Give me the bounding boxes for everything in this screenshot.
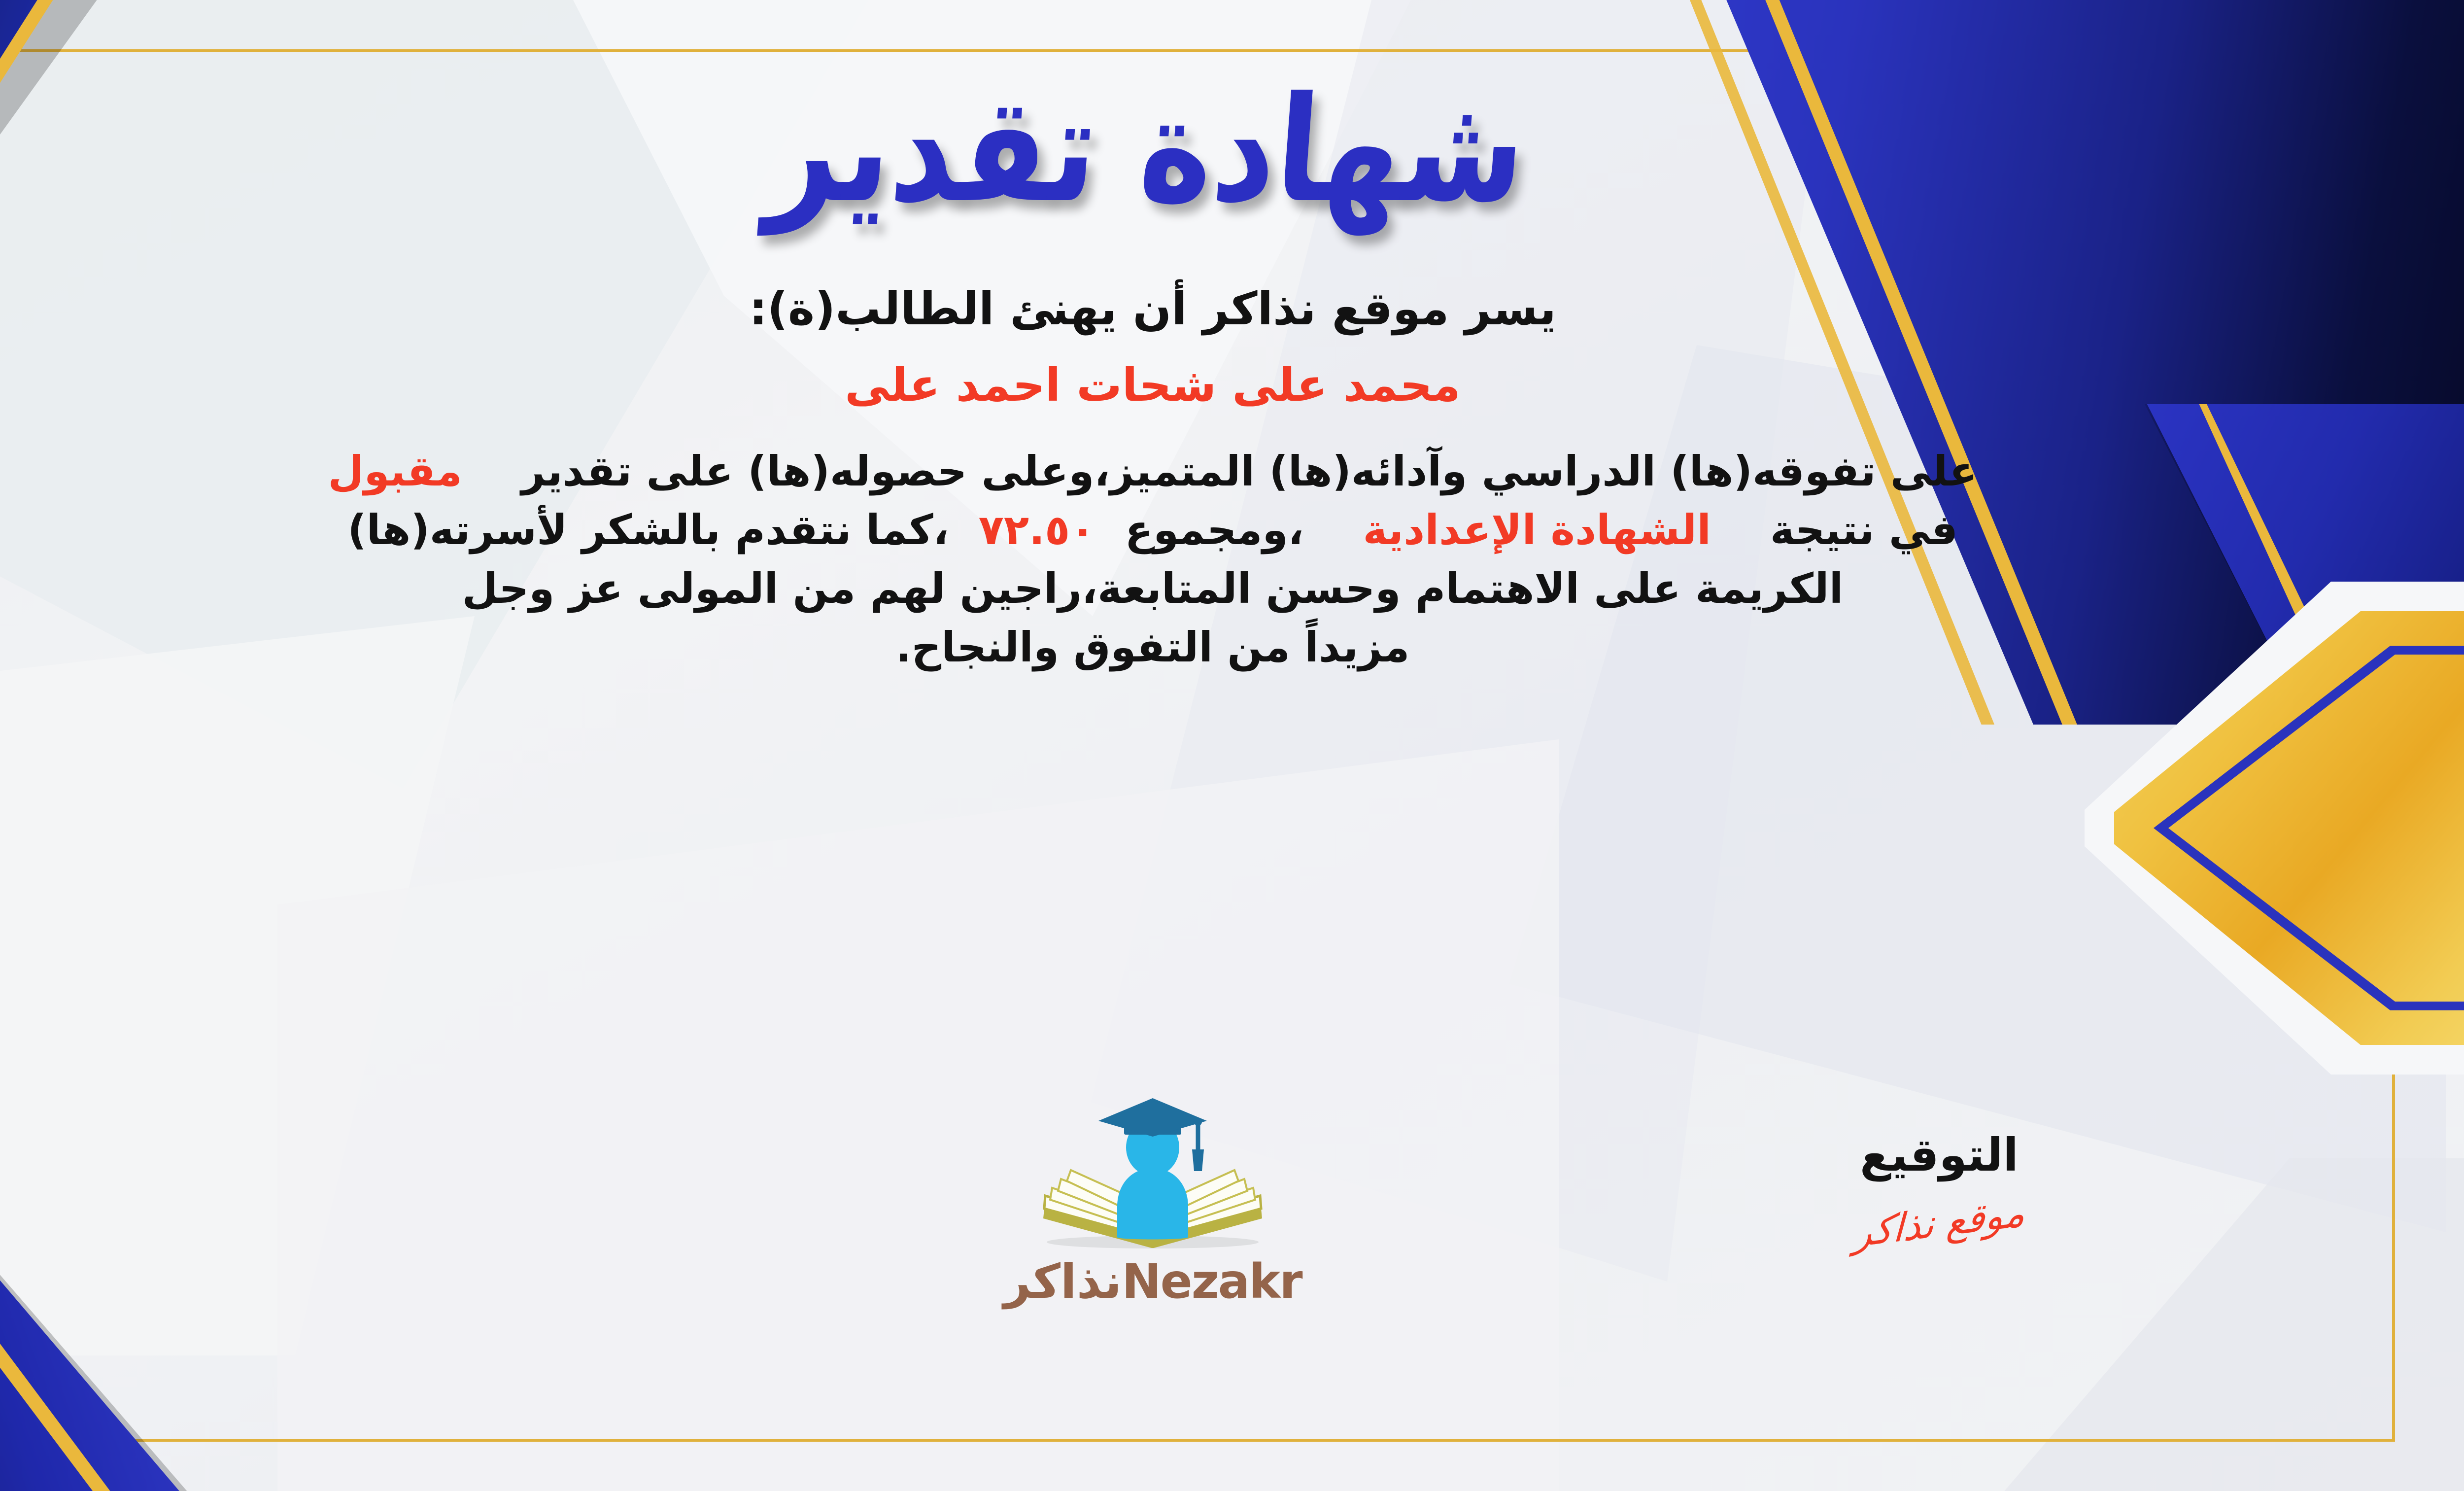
certificate-footer: التوقيع موقع نذاكر <box>0 1094 2383 1400</box>
logo-wordmark-latin: Nezakr <box>1122 1254 1301 1309</box>
exam-name: الشهادة الإعدادية <box>1363 501 1711 559</box>
body-line-4-text: مزيداً من التفوق والنجاح. <box>896 618 1410 677</box>
signature-block: التوقيع موقع نذاكر <box>1801 1129 2077 1246</box>
site-logo: Nezakrنذاكر <box>970 1094 1335 1309</box>
body-line-3: الكريمة على الاهتمام وحسن المتابعة،راجين… <box>0 559 2326 618</box>
certificate-body: على تفوقه(ها) الدراسي وآدائه(ها) المتميز… <box>0 442 2326 677</box>
body-line-2-mid: ،ومجموع <box>1125 501 1304 559</box>
body-line-4: مزيداً من التفوق والنجاح. <box>0 618 2326 677</box>
body-line-1-text: على تفوقه(ها) الدراسي وآدائه(ها) المتميز… <box>521 442 1978 501</box>
total-score: ٧٢.٥٠ <box>979 501 1095 559</box>
body-line-2-suffix: ،كما نتقدم بالشكر لأسرته(ها) <box>347 501 949 559</box>
signature-handwriting: موقع نذاكر <box>1853 1190 2026 1256</box>
intro-line: يسر موقع نذاكر أن يهنئ الطالب(ة): <box>749 282 1556 335</box>
certificate-content: شهادة تقدير يسر موقع نذاكر أن يهنئ الطال… <box>0 54 2383 1437</box>
body-line-3-text: الكريمة على الاهتمام وحسن المتابعة،راجين… <box>462 559 1844 618</box>
certificate-page: شهادة تقدير يسر موقع نذاكر أن يهنئ الطال… <box>0 0 2464 1491</box>
certificate-title: شهادة تقدير <box>763 74 1531 227</box>
logo-wordmark: Nezakrنذاكر <box>970 1254 1335 1309</box>
grade-value: مقبول <box>328 442 462 501</box>
signature-label: التوقيع <box>1801 1129 2077 1181</box>
body-line-2: في نتيجة الشهادة الإعدادية ،ومجموع ٧٢.٥٠… <box>0 501 2326 559</box>
graduate-book-logo-icon <box>1015 1094 1291 1257</box>
body-line-1: على تفوقه(ها) الدراسي وآدائه(ها) المتميز… <box>0 442 2326 501</box>
logo-wordmark-arabic: نذاكر <box>1003 1254 1122 1309</box>
student-name: محمد على شحات احمد على <box>845 359 1461 412</box>
body-line-2-prefix: في نتيجة <box>1770 501 1958 559</box>
